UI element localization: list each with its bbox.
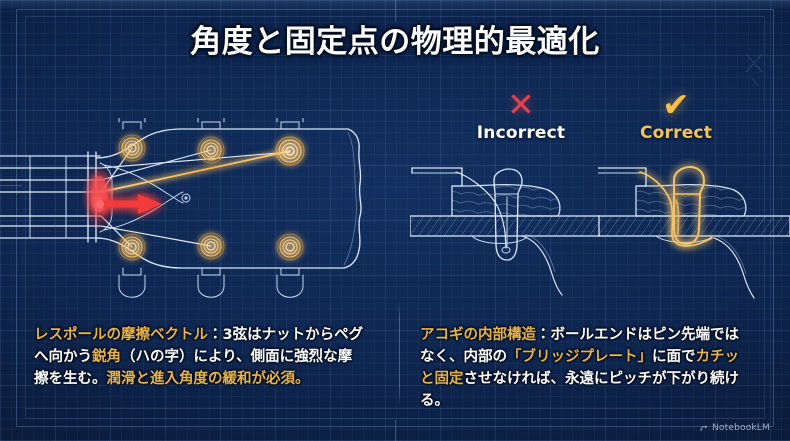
bridge-pin-cross-section-incorrect [410,150,600,300]
bridge-pin-cross-section-correct [598,150,790,300]
check-icon: ✔ [601,88,751,122]
caption-divider [399,300,400,408]
caption-right-seg-3: に面で [652,349,696,365]
bridge-body [452,185,560,216]
caption-right: アコギの内部構造：ボールエンドはピン先端ではなく、内部の「ブリッジプレート」に面… [420,324,750,412]
string-tail-incorrect [522,234,562,295]
caption-right-seg-2: 「ブリッジプレート」 [507,349,652,365]
string-3-highlight [0,151,290,192]
watermark-label: NotebookLM [712,423,770,433]
cross-icon: ✕ [446,88,596,122]
slide-root: 角度と固定点の物理的最適化 [0,0,790,441]
page-title: 角度と固定点の物理的最適化 [0,16,790,61]
tuner-buttons-bottom [119,268,303,297]
blueprint-tick-bottom [395,420,396,441]
nut-friction-glow [82,165,116,231]
tuner-buttons-top [119,118,303,129]
verdict-correct: ✔ Correct [601,88,751,143]
caption-left: レスポールの摩擦ベクトル：3弦はナットからペグへ向かう鋭角（ハの字）により、側面… [34,324,364,390]
caption-left-seg-2: 鋭角 [92,349,121,365]
watermark: NotebookLM [699,423,770,433]
verdict-incorrect-label: Incorrect [446,123,596,143]
bridge-body [636,185,746,216]
les-paul-headstock-diagram [0,118,400,313]
saddle [598,168,646,186]
caption-right-seg-5: させなければ、永遠にピッチが下がり続ける。 [420,371,739,409]
caption-left-seg-0: レスポールの摩擦ベクトル [34,327,208,343]
caption-right-seg-0: アコギの内部構造 [420,327,536,343]
string-tail-correct [714,236,754,298]
saddle [412,168,462,186]
caption-left-seg-4: 潤滑と進入角度の緩和が必須。 [107,371,310,387]
notebooklm-icon [699,424,708,433]
verdict-correct-label: Correct [601,123,751,143]
verdict-incorrect: ✕ Incorrect [446,88,596,143]
soundboard [598,216,790,236]
